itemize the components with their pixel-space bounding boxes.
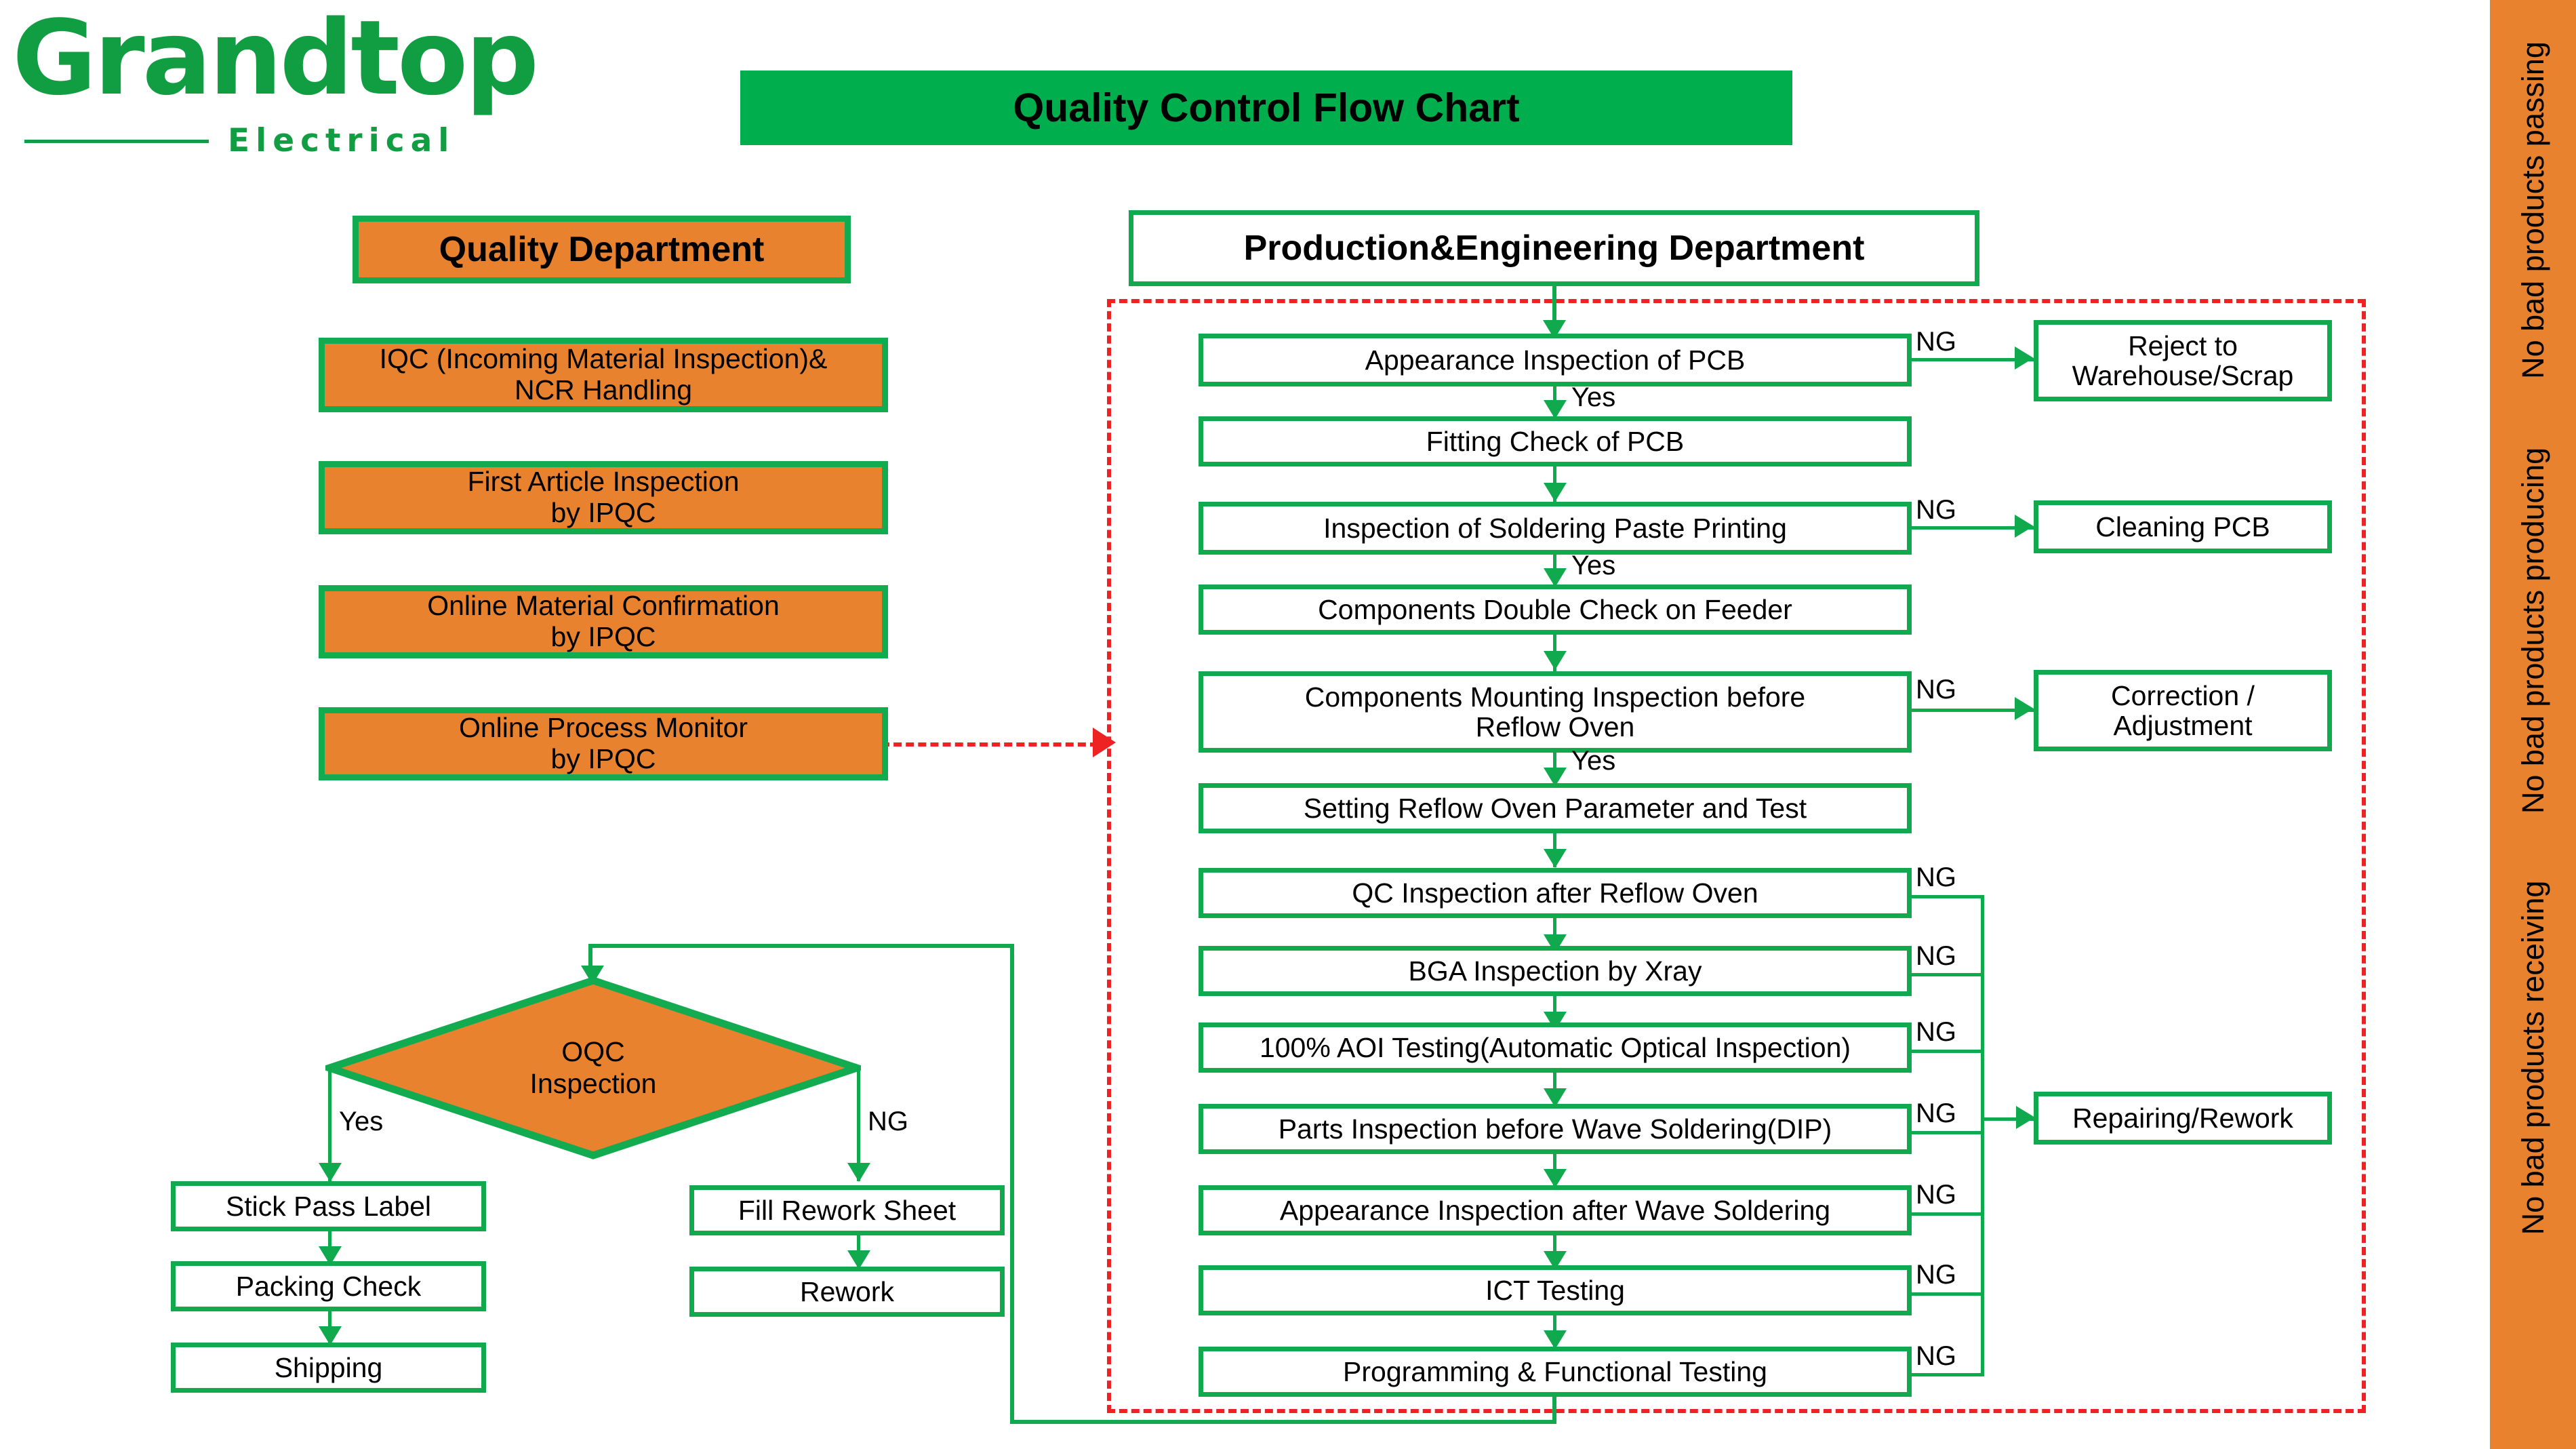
ng-bus-tap-step9 <box>1912 1050 1983 1053</box>
ng-bus-tap-step8 <box>1912 973 1983 976</box>
loop-top-horizontal <box>588 944 1014 948</box>
outcome-repairing-rework: Repairing/Rework <box>2034 1092 2332 1145</box>
edge-label-ng-step1: NG <box>1916 327 1956 357</box>
outcome-correction-line2: Adjustment <box>2113 710 2252 741</box>
production-department-header: Production&Engineering Department <box>1129 210 1979 286</box>
logo-divider-rule <box>24 140 209 143</box>
loop-left-vertical <box>1010 944 1014 1423</box>
process-step-components-double-check: Components Double Check on Feeder <box>1199 584 1912 635</box>
quality-item-first-article-line2: by IPQC <box>551 497 656 528</box>
process-step-parts-inspection-before-wave: Parts Inspection before Wave Soldering(D… <box>1199 1104 1912 1154</box>
ng-branch-step5-arrow-icon <box>2015 697 2034 720</box>
oqc-label-line2: Inspection <box>530 1068 657 1100</box>
oqc-fail-step-fill-rework-sheet: Fill Rework Sheet <box>689 1185 1005 1235</box>
quality-department-label: Quality Department <box>439 231 765 269</box>
outcome-reject-line2: Warehouse/Scrap <box>2072 360 2294 391</box>
flowchart-canvas: Grandtop Electrical Quality Control Flow… <box>0 0 2576 1449</box>
monitor-to-production-dashed-line <box>881 742 1098 747</box>
quality-item-online-process-monitor-line1: Online Process Monitor <box>459 712 748 743</box>
ng-bus-tap-step12 <box>1912 1292 1983 1296</box>
edge-label-ng-step9: NG <box>1916 1017 1956 1048</box>
quality-item-online-material-line2: by IPQC <box>551 621 656 652</box>
quality-item-online-material-line1: Online Material Confirmation <box>427 590 780 621</box>
quality-department-header: Quality Department <box>353 216 851 283</box>
logo-subtitle: Electrical <box>228 122 455 159</box>
edge-label-ng-step3: NG <box>1916 495 1956 525</box>
edge-label-ng-step7: NG <box>1916 862 1956 893</box>
process-step-qc-inspection-after-reflow: QC Inspection after Reflow Oven <box>1199 868 1912 918</box>
quality-item-online-process-monitor: Online Process Monitor by IPQC <box>319 707 888 780</box>
oqc-pass-step-shipping: Shipping <box>171 1343 486 1393</box>
quality-item-first-article-line1: First Article Inspection <box>467 466 739 497</box>
chart-title-banner: Quality Control Flow Chart <box>740 71 1792 145</box>
loop-bottom-horizontal <box>1010 1420 1556 1424</box>
ng-vertical-bus <box>1981 895 1984 1376</box>
quality-item-first-article: First Article Inspection by IPQC <box>319 461 888 534</box>
edge-label-ng-step11: NG <box>1916 1180 1956 1210</box>
process-step-appearance-inspection-pcb: Appearance Inspection of PCB <box>1199 334 1912 386</box>
company-logo: Grandtop Electrical <box>12 7 555 163</box>
process-step-ict-testing: ICT Testing <box>1199 1265 1912 1315</box>
process-step-aoi-testing: 100% AOI Testing(Automatic Optical Inspe… <box>1199 1023 1912 1073</box>
slogan-no-bad-products-passing: No bad products passing <box>2516 41 2551 379</box>
production-department-label: Production&Engineering Department <box>1244 229 1865 267</box>
outcome-correction-line1: Correction / <box>2111 680 2255 711</box>
process-step-fitting-check-pcb: Fitting Check of PCB <box>1199 416 1912 467</box>
quality-item-online-process-monitor-line2: by IPQC <box>551 743 656 774</box>
process-step-setting-reflow-oven: Setting Reflow Oven Parameter and Test <box>1199 783 1912 833</box>
ng-bus-tap-step11 <box>1912 1212 1983 1216</box>
oqc-pass-step-stick-pass-label: Stick Pass Label <box>171 1181 486 1231</box>
ng-bus-to-repairing-arrow-icon <box>2016 1106 2035 1129</box>
oqc-yes-branch-arrow-icon <box>319 1163 342 1182</box>
process-step-soldering-paste-printing: Inspection of Soldering Paste Printing <box>1199 502 1912 555</box>
ng-bus-tap-step7 <box>1912 895 1983 898</box>
slogan-no-bad-products-receiving: No bad products receiving <box>2516 881 2551 1235</box>
quality-item-iqc-line1: IQC (Incoming Material Inspection)& <box>380 343 828 374</box>
process-step-components-mounting-line1: Components Mounting Inspection before <box>1305 681 1805 713</box>
ng-bus-tap-step13 <box>1912 1373 1983 1376</box>
oqc-pass-step-packing-check: Packing Check <box>171 1261 486 1311</box>
process-step-bga-inspection-xray: BGA Inspection by Xray <box>1199 946 1912 996</box>
edge-label-ng-step10: NG <box>1916 1098 1956 1129</box>
slogan-strip: No bad products passing No bad products … <box>2490 0 2576 1449</box>
edge-label-ng-step13: NG <box>1916 1341 1956 1372</box>
edge-label-yes-step1: Yes <box>1571 382 1615 413</box>
outcome-cleaning-pcb: Cleaning PCB <box>2034 500 2332 553</box>
quality-item-online-material: Online Material Confirmation by IPQC <box>319 585 888 658</box>
arrow-step2-step3-icon <box>1544 483 1567 502</box>
edge-label-ng-step12: NG <box>1916 1260 1956 1290</box>
chart-title: Quality Control Flow Chart <box>1013 85 1519 131</box>
monitor-to-production-arrow-icon <box>1093 728 1116 757</box>
process-step-components-mounting-inspection: Components Mounting Inspection before Re… <box>1199 671 1912 753</box>
arrow-step6-step7-icon <box>1544 849 1567 868</box>
edge-label-yes-oqc: Yes <box>339 1107 383 1137</box>
oqc-fail-step-rework: Rework <box>689 1267 1005 1317</box>
ng-bus-tap-step10 <box>1912 1131 1983 1134</box>
process-step-components-mounting-line2: Reflow Oven <box>1476 711 1635 742</box>
outcome-correction-adjustment: Correction / Adjustment <box>2034 670 2332 751</box>
edge-label-ng-step5: NG <box>1916 675 1956 705</box>
outcome-reject-line1: Reject to <box>2128 330 2238 361</box>
oqc-ng-branch-arrow-icon <box>847 1163 870 1182</box>
arrow-step4-step5-icon <box>1544 651 1567 670</box>
edge-label-yes-step3: Yes <box>1571 551 1615 581</box>
oqc-label-line1: OQC <box>561 1036 624 1068</box>
edge-label-yes-step5: Yes <box>1571 746 1615 776</box>
process-step-appearance-inspection-after-wave: Appearance Inspection after Wave Solderi… <box>1199 1185 1912 1235</box>
edge-label-ng-oqc: NG <box>868 1107 908 1137</box>
process-step-programming-functional-testing: Programming & Functional Testing <box>1199 1347 1912 1397</box>
quality-item-iqc: IQC (Incoming Material Inspection)& NCR … <box>319 338 888 412</box>
quality-item-iqc-line2: NCR Handling <box>515 374 692 405</box>
ng-branch-step3-arrow-icon <box>2015 515 2034 538</box>
oqc-inspection-decision: OQC Inspection <box>325 976 861 1159</box>
edge-label-ng-step8: NG <box>1916 941 1956 972</box>
slogan-no-bad-products-producing: No bad products producing <box>2516 448 2551 814</box>
outcome-reject-to-warehouse-scrap: Reject to Warehouse/Scrap <box>2034 320 2332 401</box>
logo-wordmark: Grandtop <box>12 7 536 110</box>
ng-branch-step1-arrow-icon <box>2015 346 2034 370</box>
